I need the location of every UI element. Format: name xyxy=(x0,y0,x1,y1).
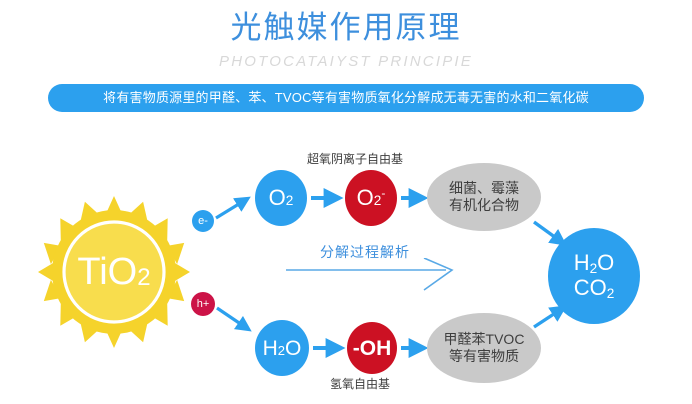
hole-badge-label: h+ xyxy=(197,299,210,310)
node-o2-sub: 2 xyxy=(286,194,294,208)
node-o2: O2 xyxy=(255,170,307,226)
target-pollutants: 甲醛苯TVOC 等有害物质 xyxy=(427,313,541,383)
target-pollutants-line2: 等有害物质 xyxy=(449,348,519,365)
node-result-line2-sub: 2 xyxy=(607,286,615,301)
electron-badge-label: e- xyxy=(198,216,208,227)
target-microbes-line1: 细菌、霉藻 xyxy=(449,180,519,197)
sun-icon xyxy=(26,196,202,348)
node-water-main: H xyxy=(263,338,278,359)
target-microbes: 细菌、霉藻 有机化合物 xyxy=(427,163,541,231)
node-hydroxyl-main: -OH xyxy=(353,338,392,359)
node-water: H2O xyxy=(255,320,309,376)
node-result-line2: CO2 xyxy=(574,276,615,301)
node-water-tail: O xyxy=(285,338,301,359)
decomposition-arrow-icon xyxy=(286,258,466,298)
infographic-canvas: 光触媒作用原理 PHOTOCATAIYST PRINCIPIE 将有害物质源里的… xyxy=(0,0,692,404)
node-hydroxyl: -OH xyxy=(347,322,397,374)
page-title: 光触媒作用原理 xyxy=(0,8,692,48)
node-superoxide-main: O xyxy=(357,187,374,209)
node-result-line2-main: CO xyxy=(574,275,607,300)
node-superoxide-sup: - xyxy=(381,187,385,199)
hole-badge: h+ xyxy=(191,292,215,316)
node-superoxide-sub: 2 xyxy=(374,194,382,208)
summary-banner: 将有害物质源里的甲醛、苯、TVOC等有害物质氧化分解成无毒无害的水和二氧化碳 xyxy=(48,84,644,112)
node-o2-main: O xyxy=(269,187,286,209)
hydroxyl-caption: 氢氧自由基 xyxy=(330,376,390,392)
node-result-line1-main: H xyxy=(574,250,590,275)
node-result: H2O CO2 xyxy=(548,228,640,324)
catalyst-sun: TiO2 xyxy=(26,196,202,348)
target-pollutants-line1: 甲醛苯TVOC xyxy=(444,331,525,348)
summary-banner-text: 将有害物质源里的甲醛、苯、TVOC等有害物质氧化分解成无毒无害的水和二氧化碳 xyxy=(103,84,589,112)
node-superoxide: O2- xyxy=(345,170,397,226)
page-subtitle: PHOTOCATAIYST PRINCIPIE xyxy=(0,52,692,72)
node-result-line1-sub: 2 xyxy=(590,261,598,276)
electron-badge: e- xyxy=(192,210,214,232)
node-water-sub: 2 xyxy=(278,344,285,357)
superoxide-caption: 超氧阴离子自由基 xyxy=(307,151,403,167)
node-result-line1: H2O xyxy=(574,251,615,276)
target-microbes-line2: 有机化合物 xyxy=(449,197,519,214)
node-result-line1-tail: O xyxy=(597,250,614,275)
